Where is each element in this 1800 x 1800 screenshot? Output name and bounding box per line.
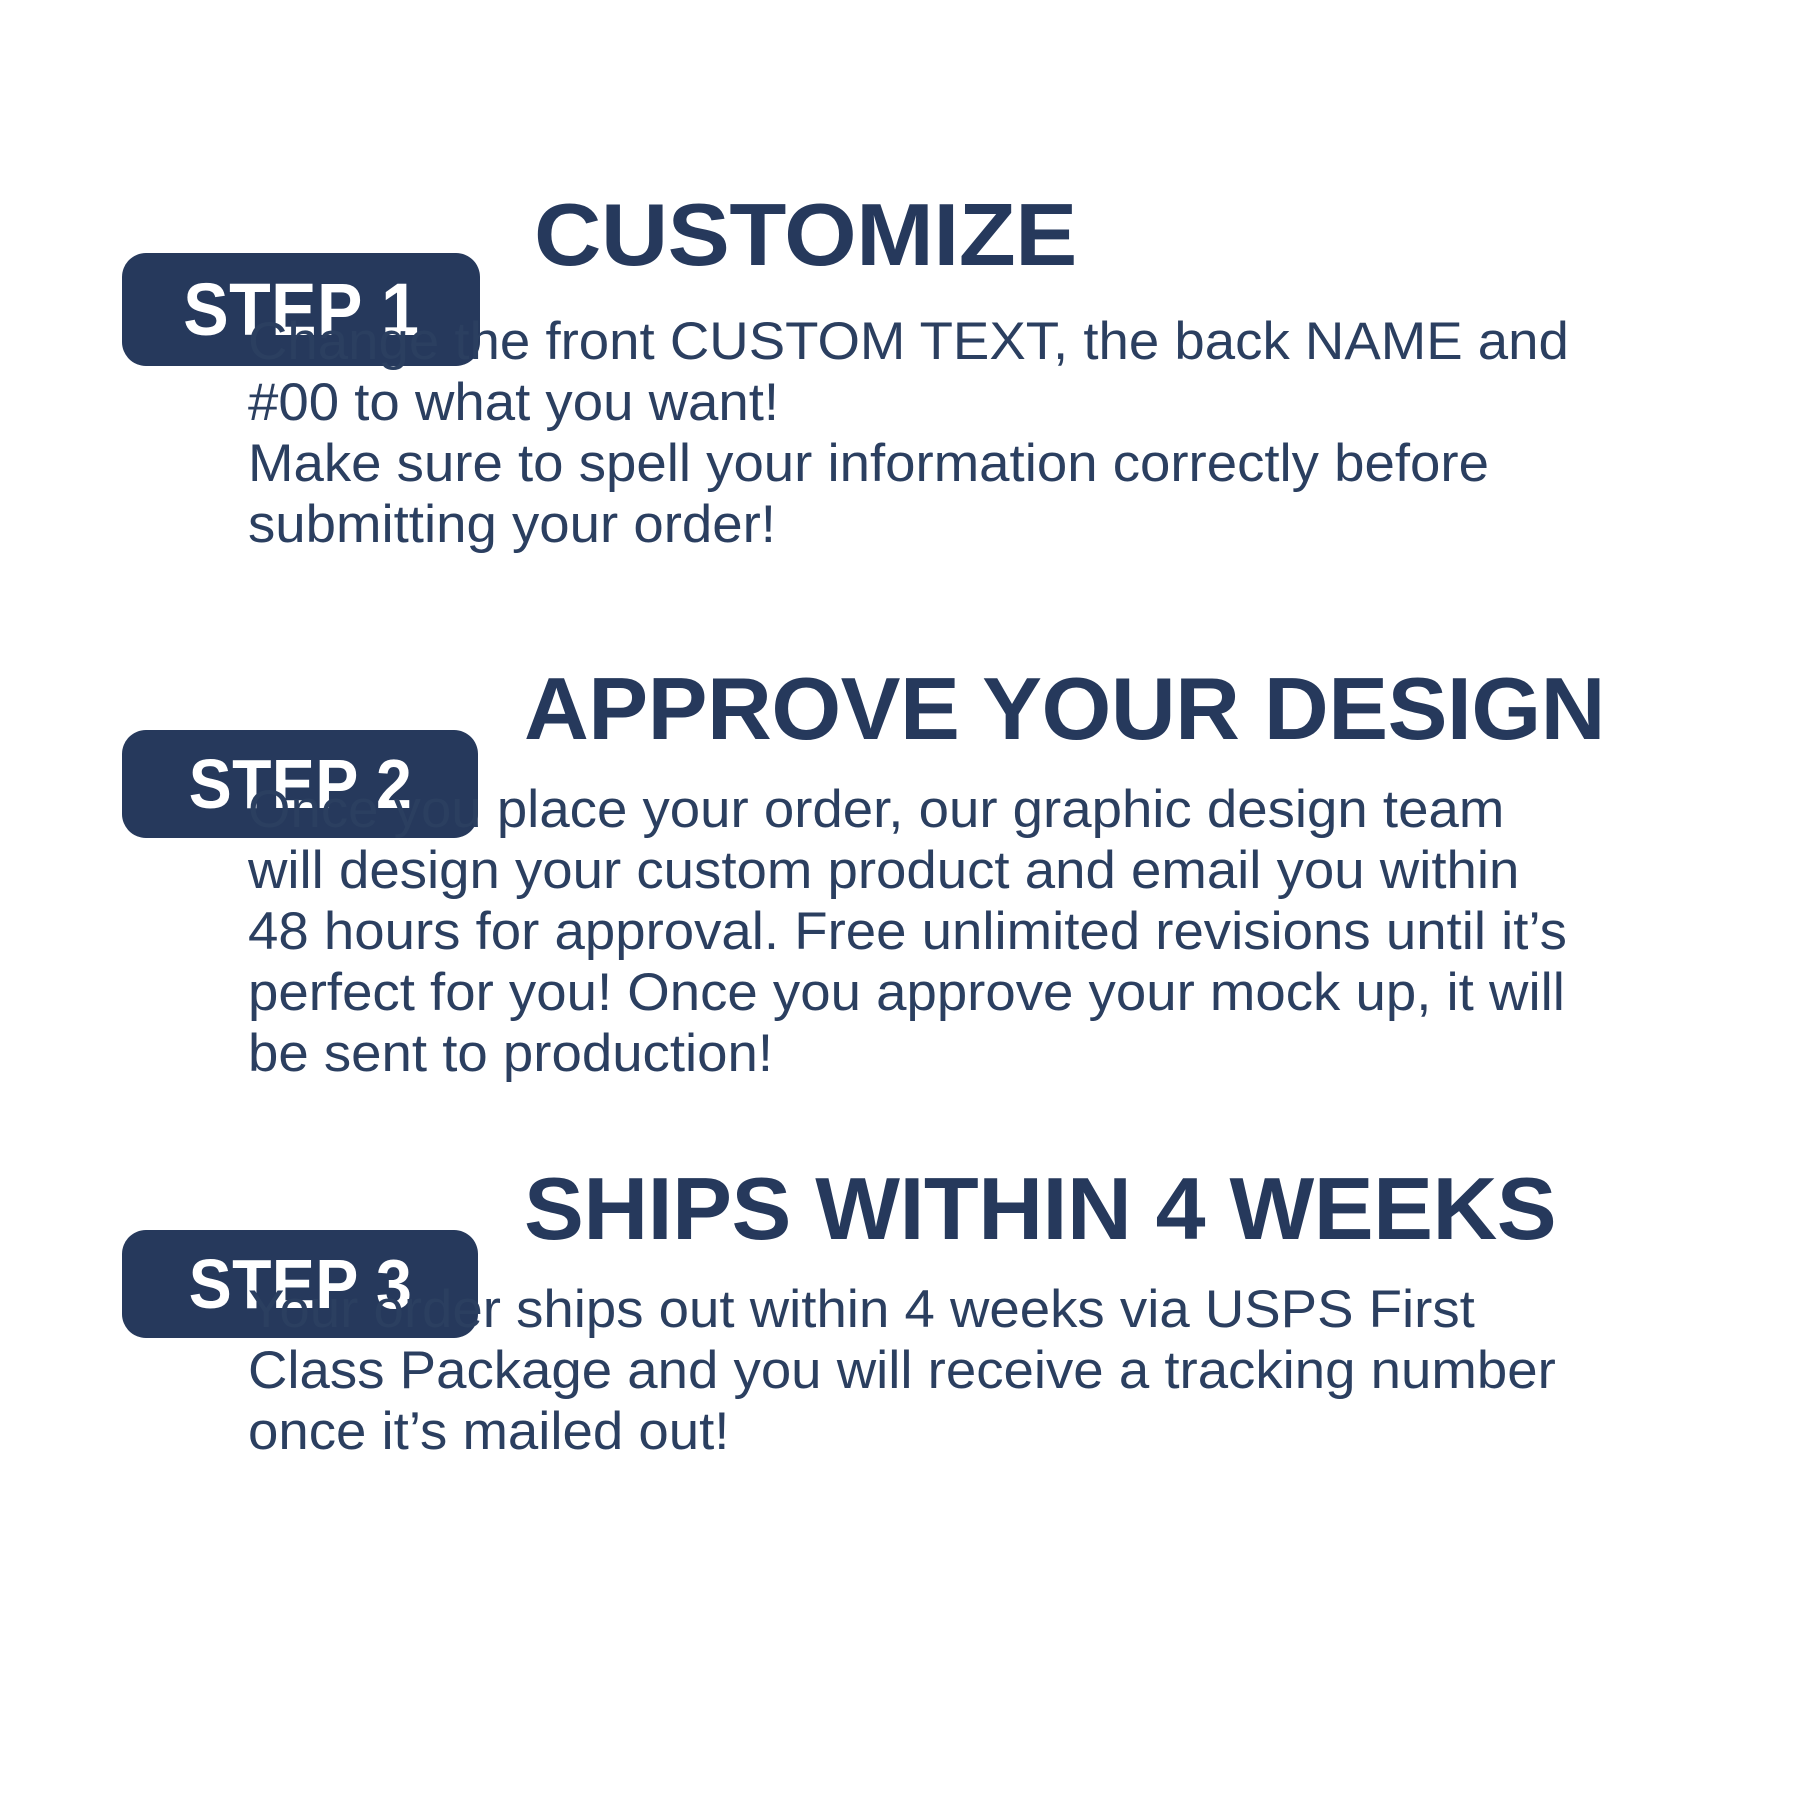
step-block-2: STEP 2 APPROVE YOUR DESIGN Once you plac… — [0, 592, 1800, 838]
step-block-3: STEP 3 SHIPS WITHIN 4 WEEKS Your order s… — [0, 1092, 1800, 1338]
step-body-2: Once you place your order, our graphic d… — [248, 779, 1567, 1084]
step-body-3: Your order ships out within 4 weeks via … — [248, 1279, 1556, 1462]
instructions-page: STEP 1 CUSTOMIZE Change the front CUSTOM… — [0, 0, 1800, 1800]
step-block-1: STEP 1 CUSTOMIZE Change the front CUSTOM… — [0, 118, 1800, 366]
step-body-1: Change the front CUSTOM TEXT, the back N… — [248, 311, 1569, 555]
step-title-2: APPROVE YOUR DESIGN — [524, 665, 1605, 765]
step-title-3: SHIPS WITHIN 4 WEEKS — [524, 1165, 1556, 1265]
step-title-1: CUSTOMIZE — [534, 191, 1077, 293]
